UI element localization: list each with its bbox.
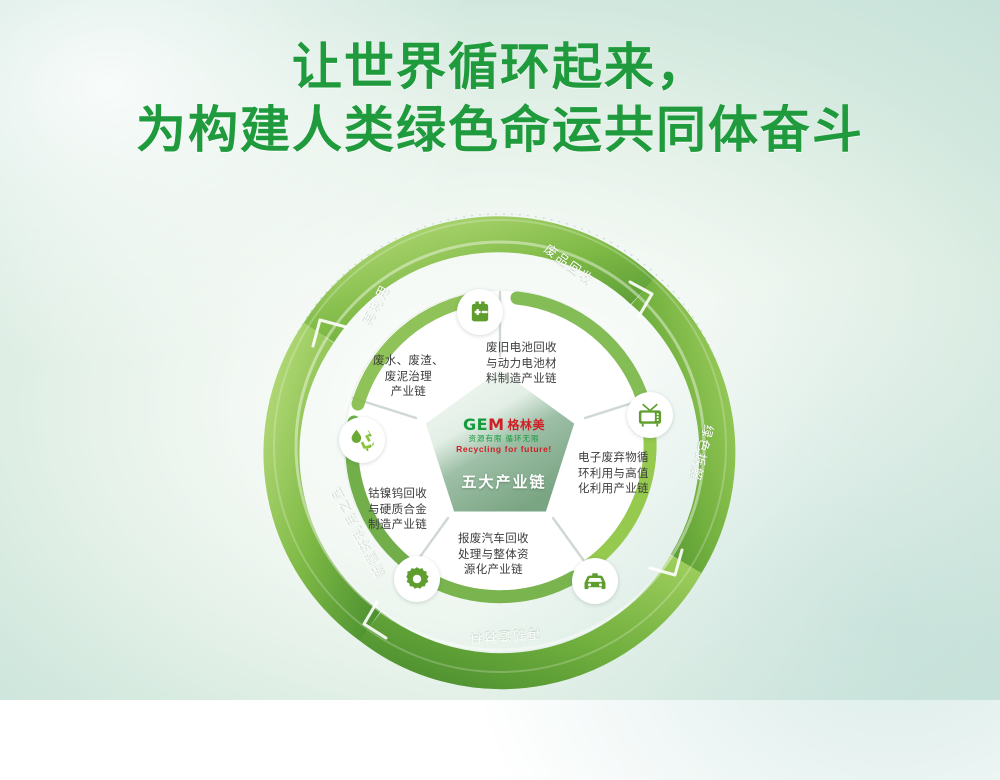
core-title: 五大产业链 xyxy=(452,471,556,492)
poster-background: 让世界循环起来， 为构建人类绿色命运共同体奋斗 xyxy=(0,0,1000,700)
wedge-label-ewaste-line-1: 电子废弃物循 xyxy=(578,451,649,467)
headline-line-1: 让世界循环起来， xyxy=(0,36,1000,98)
wedge-label-vehicle-line-2: 处理与整体资 xyxy=(458,548,529,564)
wedge-label-vehicle: 报废汽车回收 处理与整体资 源化产业链 xyxy=(458,532,529,579)
wedge-label-water-line-2: 废泥治理 xyxy=(373,370,444,386)
wedge-icon-car[interactable] xyxy=(572,558,618,604)
headline-line-2: 为构建人类绿色命运共同体奋斗 xyxy=(0,98,1000,162)
wedge-label-metal-line-1: 钴镍钨回收 xyxy=(368,487,427,503)
wedge-label-ewaste-line-2: 环利用与高值 xyxy=(578,467,649,483)
wedge-icon-battery[interactable] xyxy=(457,289,503,335)
brand-slogan-en: Recycling for future! xyxy=(452,444,556,455)
page-title: 让世界循环起来， 为构建人类绿色命运共同体奋斗 xyxy=(0,36,1000,162)
core-logo-block: GEM 格林美 资源有限 循环无限 Recycling for future! … xyxy=(452,417,556,513)
car-icon xyxy=(581,567,609,595)
wedge-label-metal-line-3: 制造产业链 xyxy=(368,518,427,534)
wedge-label-water-line-3: 产业链 xyxy=(373,385,444,401)
battery-icon xyxy=(466,298,494,326)
wedge-label-battery-line-1: 废旧电池回收 xyxy=(486,341,557,357)
wedge-label-ewaste: 电子废弃物循 环利用与高值 化利用产业链 xyxy=(578,451,649,498)
gear-icon xyxy=(403,565,431,593)
wedge-label-vehicle-line-1: 报废汽车回收 xyxy=(458,532,529,548)
wedge-label-battery-line-2: 与动力电池材 xyxy=(486,357,557,373)
brand-mark-ge: GE xyxy=(463,415,488,434)
wedge-icon-tv[interactable] xyxy=(627,392,673,438)
wedge-label-metal-line-2: 与硬质合金 xyxy=(368,503,427,519)
wedge-label-water: 废水、废渣、 废泥治理 产业链 xyxy=(373,354,444,401)
wedge-label-vehicle-line-3: 源化产业链 xyxy=(458,563,529,579)
wedge-icon-water-recycle[interactable] xyxy=(339,417,385,463)
brand-logo: GEM 格林美 xyxy=(452,417,556,433)
wedge-label-ewaste-line-3: 化利用产业链 xyxy=(578,482,649,498)
wedge-label-battery-line-3: 料制造产业链 xyxy=(486,372,557,388)
wedge-label-water-line-1: 废水、废渣、 xyxy=(373,354,444,370)
brand-slogan-cn: 资源有限 循环无限 xyxy=(452,434,556,444)
wedge-label-metal: 钴镍钨回收 与硬质合金 制造产业链 xyxy=(368,487,427,534)
wedge-icon-gear[interactable] xyxy=(394,556,440,602)
wedge-label-battery: 废旧电池回收 与动力电池材 料制造产业链 xyxy=(486,341,557,388)
water-recycle-icon xyxy=(348,426,376,454)
tv-icon xyxy=(636,401,664,429)
brand-mark-m: M xyxy=(488,415,504,434)
circular-economy-diagram: 废旧电池回收 与动力电池材 料制造产业链 电子废弃物循 环利用与高值 化利用产业… xyxy=(258,206,742,686)
brand-mark: GEM xyxy=(463,417,504,433)
brand-name-cn: 格林美 xyxy=(507,418,545,432)
